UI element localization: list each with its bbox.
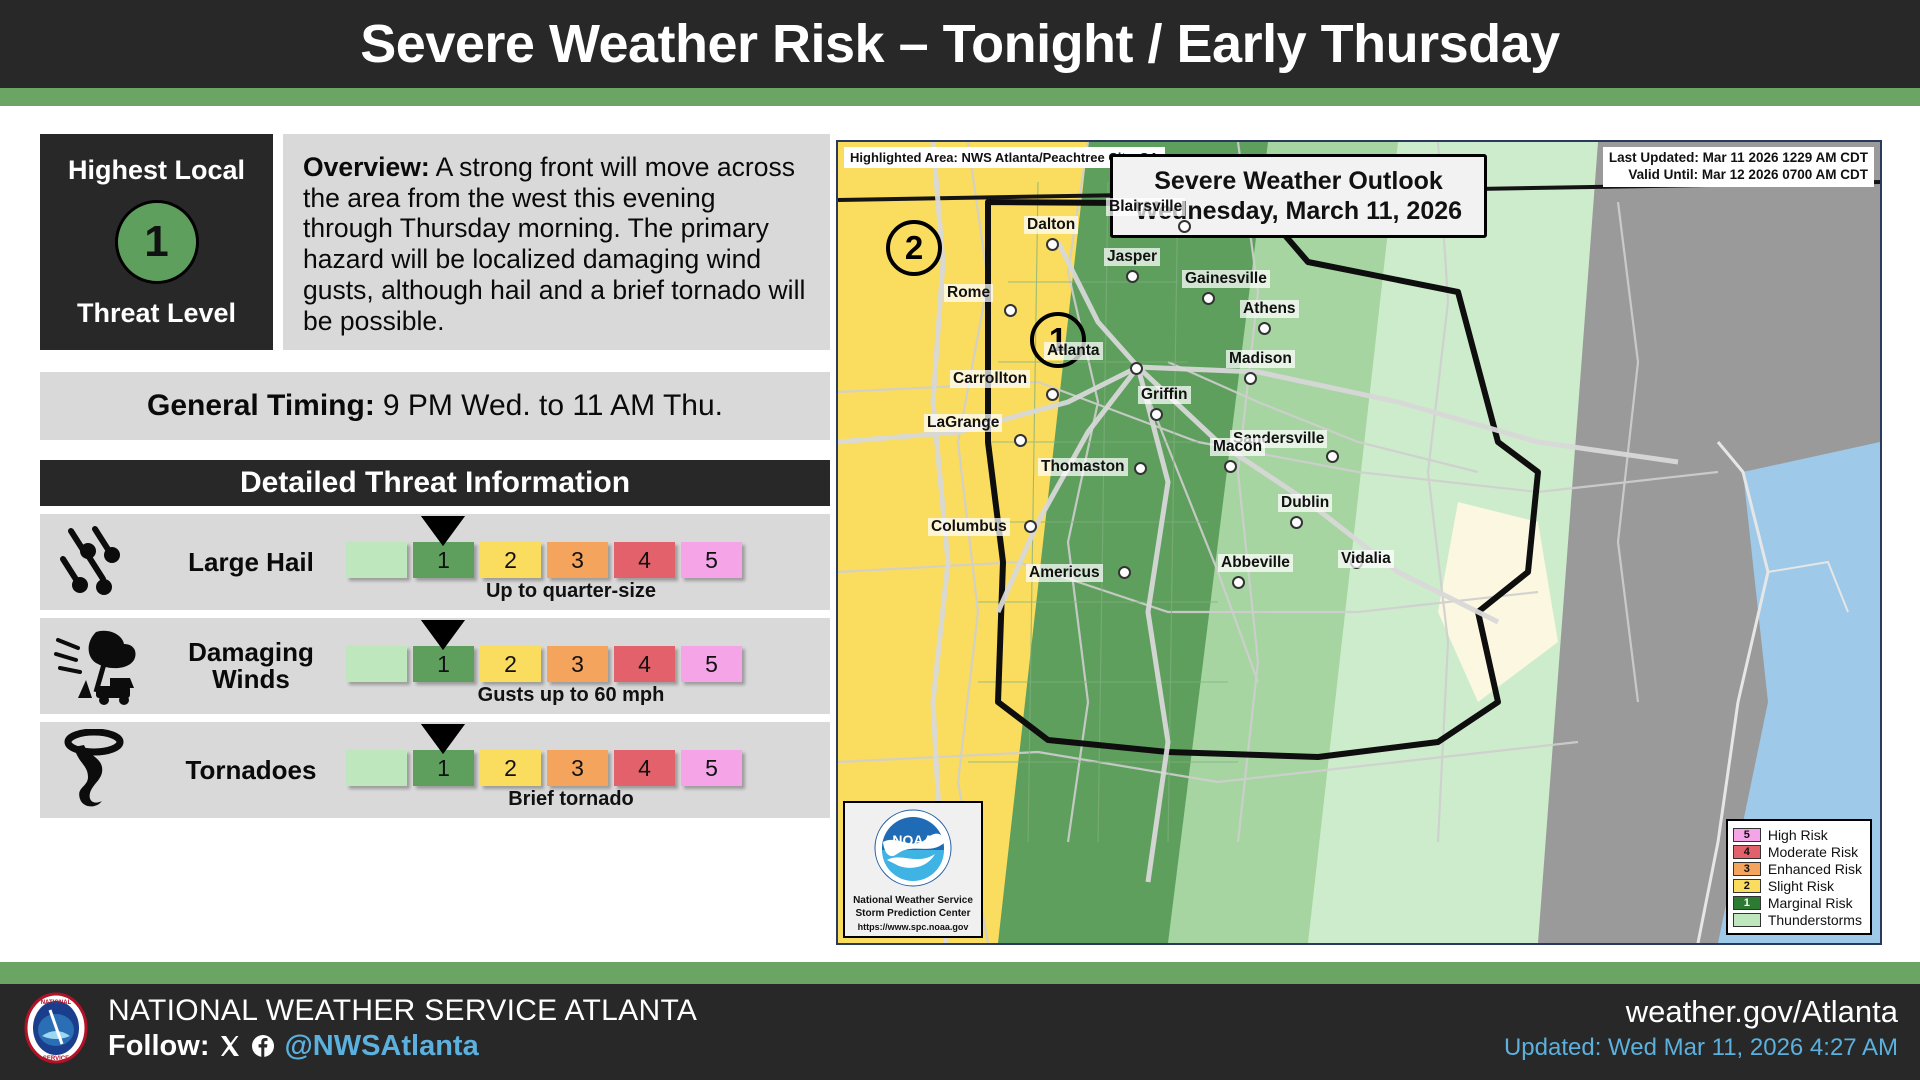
city-dot-icon bbox=[1134, 462, 1147, 475]
footer-updated: Updated: Wed Mar 11, 2026 4:27 AM bbox=[1504, 1034, 1898, 1062]
city-dot-icon bbox=[1258, 322, 1271, 335]
city-dot-icon bbox=[1024, 520, 1037, 533]
city-dot-icon bbox=[1150, 408, 1163, 421]
map-title-box: Severe Weather Outlook Wednesday, March … bbox=[1110, 154, 1487, 238]
threat-detail-text: Brief tornado bbox=[406, 788, 736, 811]
legend-row: Thunderstorms bbox=[1733, 911, 1862, 928]
threat-name-label: Large Hail bbox=[156, 549, 346, 576]
severe-weather-graphic: Severe Weather Risk – Tonight / Early Th… bbox=[0, 0, 1920, 1080]
tornado-icon bbox=[40, 722, 156, 818]
city-label: Madison bbox=[1226, 350, 1295, 368]
city-dot-icon bbox=[1130, 362, 1143, 375]
threat-level-top-label: Highest Local bbox=[68, 156, 245, 186]
threat-detail-text: Up to quarter-size bbox=[406, 580, 736, 603]
city-dot-icon bbox=[1046, 388, 1059, 401]
scale-box-1: 1 bbox=[413, 542, 474, 578]
threat-scale: 12345Brief tornado bbox=[346, 722, 830, 818]
footer-website[interactable]: weather.gov/Atlanta bbox=[1504, 994, 1898, 1030]
legend-label: Moderate Risk bbox=[1768, 844, 1858, 860]
overview-text: Overview: A strong front will move acros… bbox=[303, 152, 810, 336]
city-label: Athens bbox=[1240, 300, 1299, 318]
city-label: Blairsville bbox=[1106, 198, 1185, 216]
noaa-caption-line1: National Weather Service bbox=[849, 895, 977, 908]
svg-text:NATIONAL: NATIONAL bbox=[41, 1000, 72, 1006]
header-accent-rule bbox=[0, 88, 1920, 106]
scale-box-5: 5 bbox=[681, 646, 742, 682]
scale-box-5: 5 bbox=[681, 542, 742, 578]
legend-swatch bbox=[1733, 913, 1761, 927]
scale-box-3: 3 bbox=[547, 750, 608, 786]
map-risk-marker-2: 2 bbox=[886, 220, 942, 276]
summary-row: Highest Local 1 Threat Level Overview: A… bbox=[40, 134, 830, 350]
city-dot-icon bbox=[1126, 270, 1139, 283]
city-dot-icon bbox=[1290, 516, 1303, 529]
detailed-threat-header: Detailed Threat Information bbox=[40, 460, 830, 506]
general-timing-value: 9 PM Wed. to 11 AM Thu. bbox=[383, 389, 723, 423]
city-dot-icon bbox=[1014, 434, 1027, 447]
city-label: Gainesville bbox=[1182, 270, 1270, 288]
threat-name-label: Damaging Winds bbox=[156, 639, 346, 694]
threat-level-marker bbox=[424, 724, 462, 750]
city-label: Dalton bbox=[1024, 216, 1078, 234]
footer-handle[interactable]: @NWSAtlanta bbox=[284, 1030, 478, 1063]
page-title: Severe Weather Risk – Tonight / Early Th… bbox=[360, 13, 1559, 75]
overview-label: Overview: bbox=[303, 152, 430, 182]
city-label: Abbeville bbox=[1218, 554, 1293, 572]
map-last-updated: Last Updated: Mar 11 2026 1229 AM CDT bbox=[1609, 150, 1868, 167]
noaa-caption-line2: Storm Prediction Center bbox=[849, 908, 977, 921]
legend-row: 3Enhanced Risk bbox=[1733, 860, 1862, 877]
general-timing-label: General Timing: bbox=[147, 389, 375, 423]
scale-box-1: 1 bbox=[413, 750, 474, 786]
threat-scale: 12345Up to quarter-size bbox=[346, 514, 830, 610]
scale-box-5: 5 bbox=[681, 750, 742, 786]
city-label: Jasper bbox=[1104, 248, 1160, 266]
svg-text:NOAA: NOAA bbox=[892, 832, 933, 848]
city-dot-icon bbox=[1326, 450, 1339, 463]
scale-box-2: 2 bbox=[480, 646, 541, 682]
legend-row: 2Slight Risk bbox=[1733, 877, 1862, 894]
threat-level-marker bbox=[424, 516, 462, 542]
city-label: Atlanta bbox=[1044, 342, 1103, 360]
threat-row: Large Hail12345Up to quarter-size bbox=[40, 514, 830, 610]
scale-box-4: 4 bbox=[614, 542, 675, 578]
city-dot-icon bbox=[1244, 372, 1257, 385]
footer-text: NATIONAL WEATHER SERVICE ATLANTA Follow:… bbox=[108, 994, 697, 1063]
city-label: Thomaston bbox=[1038, 458, 1128, 476]
legend-row: 1Marginal Risk bbox=[1733, 894, 1862, 911]
scale-box-4: 4 bbox=[614, 750, 675, 786]
left-panel: Highest Local 1 Threat Level Overview: A… bbox=[40, 134, 830, 818]
legend-swatch: 1 bbox=[1733, 896, 1761, 910]
city-label: Rome bbox=[944, 284, 993, 302]
map-timestamp: Last Updated: Mar 11 2026 1229 AM CDT Va… bbox=[1603, 147, 1874, 187]
map-graphic bbox=[838, 142, 1880, 943]
scale-box-1: 1 bbox=[413, 646, 474, 682]
svg-text:SERVICE: SERVICE bbox=[43, 1056, 69, 1062]
city-dot-icon bbox=[1232, 576, 1245, 589]
footer-bar: NATIONAL SERVICE NATIONAL WEATHER SERVIC… bbox=[0, 984, 1920, 1080]
legend-rows-container: 5High Risk4Moderate Risk3Enhanced Risk2S… bbox=[1733, 826, 1862, 928]
city-label: Griffin bbox=[1138, 386, 1191, 404]
city-dot-icon bbox=[1118, 566, 1131, 579]
city-label: Dublin bbox=[1278, 494, 1332, 512]
city-dot-icon bbox=[1178, 220, 1191, 233]
city-label: Americus bbox=[1026, 564, 1103, 582]
city-dot-icon bbox=[1046, 238, 1059, 251]
hail-icon bbox=[40, 514, 156, 610]
scale-box-thunderstorms bbox=[346, 542, 407, 578]
city-label: Carrollton bbox=[950, 370, 1030, 388]
wind-icon bbox=[40, 618, 156, 714]
threat-level-bottom-label: Threat Level bbox=[77, 299, 236, 329]
scale-box-3: 3 bbox=[547, 646, 608, 682]
city-label: Columbus bbox=[928, 518, 1010, 536]
legend-label: Enhanced Risk bbox=[1768, 861, 1862, 877]
header-bar: Severe Weather Risk – Tonight / Early Th… bbox=[0, 0, 1920, 88]
threat-level-marker bbox=[424, 620, 462, 646]
general-timing-box: General Timing: 9 PM Wed. to 11 AM Thu. bbox=[40, 372, 830, 440]
threat-scale-boxes: 12345 bbox=[346, 646, 742, 682]
threat-level-value-circle: 1 bbox=[115, 200, 199, 284]
footer-accent-rule bbox=[0, 962, 1920, 984]
scale-box-thunderstorms bbox=[346, 750, 407, 786]
scale-box-2: 2 bbox=[480, 750, 541, 786]
legend-label: High Risk bbox=[1768, 827, 1828, 843]
facebook-icon[interactable] bbox=[251, 1034, 275, 1058]
city-dot-icon bbox=[1202, 292, 1215, 305]
x-twitter-icon[interactable] bbox=[218, 1034, 242, 1058]
legend-label: Slight Risk bbox=[1768, 878, 1834, 894]
legend-row: 4Moderate Risk bbox=[1733, 843, 1862, 860]
risk-legend: 5High Risk4Moderate Risk3Enhanced Risk2S… bbox=[1726, 819, 1872, 935]
legend-swatch: 5 bbox=[1733, 828, 1761, 842]
scale-box-2: 2 bbox=[480, 542, 541, 578]
scale-box-3: 3 bbox=[547, 542, 608, 578]
scale-box-4: 4 bbox=[614, 646, 675, 682]
city-label: Vidalia bbox=[1338, 550, 1394, 568]
legend-label: Marginal Risk bbox=[1768, 895, 1853, 911]
threat-row: Damaging Winds12345Gusts up to 60 mph bbox=[40, 618, 830, 714]
legend-row: 5High Risk bbox=[1733, 826, 1862, 843]
threat-row: Tornadoes12345Brief tornado bbox=[40, 722, 830, 818]
legend-swatch: 2 bbox=[1733, 879, 1761, 893]
noaa-spc-logo-box: NOAA National Weather Service Storm Pred… bbox=[843, 801, 983, 938]
map-valid-until: Valid Until: Mar 12 2026 0700 AM CDT bbox=[1609, 167, 1868, 184]
scale-box-thunderstorms bbox=[346, 646, 407, 682]
threat-detail-text: Gusts up to 60 mph bbox=[406, 684, 736, 707]
highest-threat-level-box: Highest Local 1 Threat Level bbox=[40, 134, 273, 350]
city-label: Macon bbox=[1210, 438, 1265, 456]
legend-swatch: 4 bbox=[1733, 845, 1761, 859]
overview-box: Overview: A strong front will move acros… bbox=[283, 134, 830, 350]
severe-weather-outlook-map[interactable]: Highlighted Area: NWS Atlanta/Peachtree … bbox=[836, 140, 1882, 945]
noaa-url: https://www.spc.noaa.gov bbox=[849, 922, 977, 932]
city-label: LaGrange bbox=[924, 414, 1002, 432]
noaa-logo-icon: NOAA bbox=[857, 808, 969, 890]
map-title-line1: Severe Weather Outlook bbox=[1135, 166, 1462, 196]
city-dot-icon bbox=[1004, 304, 1017, 317]
footer-follow-label: Follow: bbox=[108, 1030, 209, 1063]
footer-right: weather.gov/Atlanta Updated: Wed Mar 11,… bbox=[1504, 994, 1898, 1062]
threat-scale: 12345Gusts up to 60 mph bbox=[346, 618, 830, 714]
footer-left: NATIONAL SERVICE NATIONAL WEATHER SERVIC… bbox=[20, 992, 697, 1064]
threat-rows-container: Large Hail12345Up to quarter-sizeDamagin… bbox=[40, 514, 830, 818]
city-dot-icon bbox=[1224, 460, 1237, 473]
threat-scale-boxes: 12345 bbox=[346, 750, 742, 786]
threat-name-label: Tornadoes bbox=[156, 757, 346, 784]
threat-scale-boxes: 12345 bbox=[346, 542, 742, 578]
footer-office: NATIONAL WEATHER SERVICE ATLANTA bbox=[108, 994, 697, 1028]
nws-seal-icon: NATIONAL SERVICE bbox=[20, 992, 92, 1064]
footer-follow-line: Follow: @NWSAtlanta bbox=[108, 1030, 697, 1063]
legend-label: Thunderstorms bbox=[1768, 912, 1862, 928]
legend-swatch: 3 bbox=[1733, 862, 1761, 876]
